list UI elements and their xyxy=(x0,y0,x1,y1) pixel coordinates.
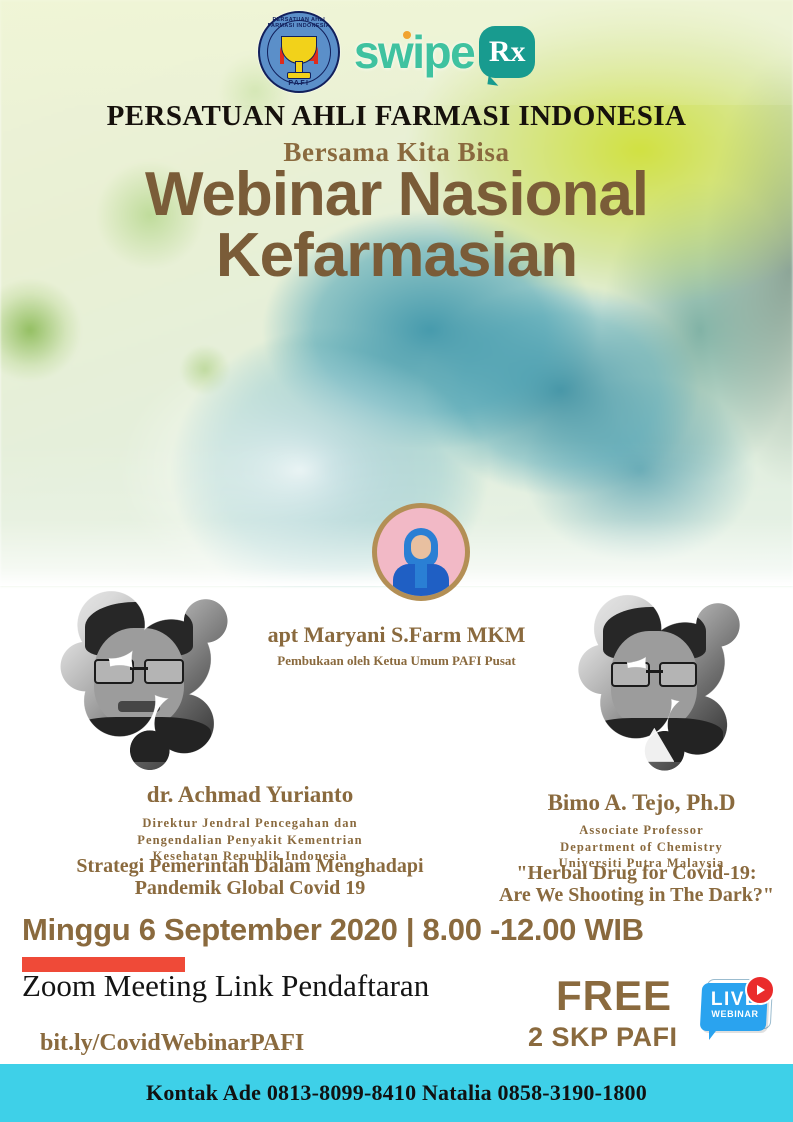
play-button-icon xyxy=(745,975,775,1005)
swipe-i-dot xyxy=(403,31,411,39)
platform-text: Zoom Meeting Link Pendaftaran xyxy=(22,968,429,1004)
swipe-wordmark: swipe xyxy=(354,29,474,75)
center-speaker-face xyxy=(411,535,431,559)
main-title-line2: Kefarmasian xyxy=(0,226,793,287)
pafi-logo-bottom-text: PAFI xyxy=(260,80,338,87)
swiperx-logo: swipe Rx xyxy=(354,26,535,78)
credits-label: 2 SKP PAFI xyxy=(528,1022,678,1053)
right-speaker-topic: "Herbal Drug for Covid-19: Are We Shooti… xyxy=(480,862,793,907)
left-speaker-affiliation-line2: Pengendalian Penyakit Kementrian xyxy=(0,832,500,849)
left-speaker-affiliation-line1: Direktur Jendral Pencegahan dan xyxy=(0,815,500,832)
left-speaker-topic: Strategi Pemerintah Dalam Menghadapi Pan… xyxy=(0,855,500,900)
main-title: Webinar Nasional Kefarmasian xyxy=(0,165,793,287)
poster-header: PERSATUAN AHLI FARMASI INDONESIA PAFI sw… xyxy=(0,8,793,96)
right-speaker-name: Bimo A. Tejo, Ph.D xyxy=(490,790,793,816)
contact-bar: Kontak Ade 0813-8099-8410 Natalia 0858-3… xyxy=(0,1064,793,1122)
left-speaker-topic-line1: Strategi Pemerintah Dalam Menghadapi xyxy=(0,855,500,877)
left-speaker-brush-mask xyxy=(38,583,253,773)
left-speaker-portrait xyxy=(64,602,215,762)
right-speaker-affiliation-line2: Department of Chemistry xyxy=(490,839,793,856)
main-title-line1: Webinar Nasional xyxy=(145,160,648,229)
live-badge-line2: WEBINAR xyxy=(707,1010,763,1019)
pafi-logo-icon: PERSATUAN AHLI FARMASI INDONESIA PAFI xyxy=(258,11,340,93)
right-speaker-portrait xyxy=(583,607,727,762)
left-speaker-name: dr. Achmad Yurianto xyxy=(0,782,500,808)
pafi-foot-icon xyxy=(287,72,311,79)
left-speaker-glasses-right xyxy=(144,659,184,684)
contact-text: Kontak Ade 0813-8099-8410 Natalia 0858-3… xyxy=(146,1080,647,1106)
right-speaker-affiliation-line1: Associate Professor xyxy=(490,822,793,839)
left-speaker-moustache xyxy=(118,701,160,712)
live-webinar-badge: LIVE WEBINAR xyxy=(697,975,775,1041)
right-speaker-glasses-left xyxy=(611,662,649,686)
right-speaker-photo xyxy=(558,588,763,773)
right-speaker-topic-line2: Are We Shooting in The Dark?" xyxy=(480,884,793,906)
center-speaker-photo xyxy=(372,503,470,601)
pafi-logo-top-text: PERSATUAN AHLI FARMASI INDONESIA xyxy=(260,17,338,29)
right-speaker-brush-mask xyxy=(558,588,763,773)
organization-title: PERSATUAN AHLI FARMASI INDONESIA xyxy=(0,100,793,133)
right-speaker-glasses-right xyxy=(659,662,697,686)
webinar-poster: PERSATUAN AHLI FARMASI INDONESIA PAFI sw… xyxy=(0,0,793,1122)
left-speaker-body xyxy=(67,717,211,762)
rx-label: Rx xyxy=(489,37,526,67)
live-badge-tail xyxy=(709,1027,719,1040)
registration-link[interactable]: bit.ly/CovidWebinarPAFI xyxy=(40,1030,304,1057)
rx-bubble-icon: Rx xyxy=(479,26,535,78)
center-speaker-collar xyxy=(415,564,427,588)
left-speaker-glasses-bridge xyxy=(130,667,148,669)
right-speaker-glasses-bridge xyxy=(646,670,663,672)
price-label: FREE xyxy=(556,972,672,1020)
left-speaker-glasses-left xyxy=(94,659,134,684)
left-speaker-photo xyxy=(38,583,253,773)
left-speaker-topic-line2: Pandemik Global Covid 19 xyxy=(0,877,500,899)
right-speaker-topic-line1: "Herbal Drug for Covid-19: xyxy=(480,862,793,884)
schedule-text: Minggu 6 September 2020 | 8.00 -12.00 WI… xyxy=(22,912,644,948)
